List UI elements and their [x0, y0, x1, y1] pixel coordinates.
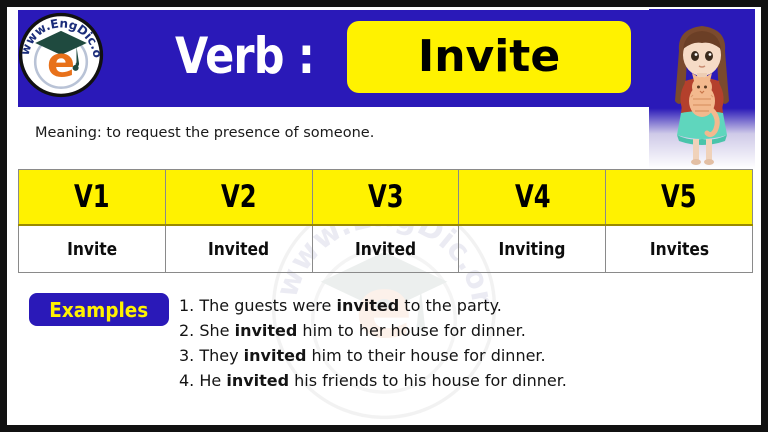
list-item: 3. They invited him to their house for d…: [179, 343, 567, 368]
table-header-v2: V2: [165, 170, 312, 226]
example-after: to the party.: [399, 296, 502, 315]
verb-form-v4-text: Inviting: [499, 239, 566, 260]
example-bold: invited: [244, 346, 307, 365]
table-header-v2-label: V2: [221, 179, 257, 215]
part-of-speech-label: Verb :: [175, 20, 314, 92]
example-number: 2.: [179, 321, 194, 340]
example-after: him to her house for dinner.: [297, 321, 525, 340]
table-header-v4: V4: [459, 170, 606, 226]
word-box: Invite: [347, 21, 631, 93]
examples-badge: Examples: [29, 293, 169, 326]
table-header-v5-label: V5: [661, 179, 697, 215]
verb-form-v5-text: Invites: [649, 239, 708, 260]
svg-text:e: e: [47, 39, 75, 87]
example-number: 3.: [179, 346, 194, 365]
list-item: 1. The guests were invited to the party.: [179, 293, 567, 318]
verb-forms-table: V1 V2 V3 V4 V5 Invite Invited Invited In…: [18, 169, 753, 273]
example-bold: invited: [226, 371, 289, 390]
example-before: The guests were: [199, 296, 336, 315]
word-text: Invite: [418, 35, 560, 79]
verb-form-v1: Invite: [19, 225, 166, 273]
list-item: 2. She invited him to her house for dinn…: [179, 318, 567, 343]
table-header-v5: V5: [606, 170, 753, 226]
example-bold: invited: [336, 296, 399, 315]
example-number: 4.: [179, 371, 194, 390]
table-header-v1-label: V1: [74, 179, 110, 215]
table-header-row: V1 V2 V3 V4 V5: [19, 170, 753, 226]
example-after: him to their house for dinner.: [306, 346, 545, 365]
verb-form-v5: Invites: [606, 225, 753, 273]
table-row: Invite Invited Invited Inviting Invites: [19, 225, 753, 273]
example-bold: invited: [235, 321, 298, 340]
verb-form-v2: Invited: [165, 225, 312, 273]
list-item: 4. He invited his friends to his house f…: [179, 368, 567, 393]
verb-form-v4: Inviting: [459, 225, 606, 273]
verb-form-v1-text: Invite: [67, 239, 117, 260]
example-before: She: [199, 321, 234, 340]
examples-list: 1. The guests were invited to the party.…: [179, 293, 567, 393]
example-after: his friends to his house for dinner.: [289, 371, 567, 390]
example-before: They: [199, 346, 243, 365]
example-number: 1.: [179, 296, 194, 315]
table-header-v3: V3: [312, 170, 459, 226]
worksheet-canvas: e www.EngDic.org e www.EngDic.org Verb :: [7, 7, 761, 425]
table-header-v4-label: V4: [515, 179, 551, 215]
worksheet-page: e www.EngDic.org e www.EngDic.org Verb :: [0, 0, 768, 432]
meaning-text: Meaning: to request the presence of some…: [35, 125, 374, 141]
verb-form-v3-text: Invited: [355, 239, 416, 260]
verb-form-v2-text: Invited: [208, 239, 269, 260]
verb-form-v3: Invited: [312, 225, 459, 273]
examples-badge-label: Examples: [50, 298, 149, 322]
engdic-logo-icon: e www.EngDic.org: [18, 12, 104, 98]
example-before: He: [199, 371, 226, 390]
girl-holding-cat-illustration-icon: [649, 9, 755, 169]
table-header-v3-label: V3: [368, 179, 404, 215]
table-header-v1: V1: [19, 170, 166, 226]
